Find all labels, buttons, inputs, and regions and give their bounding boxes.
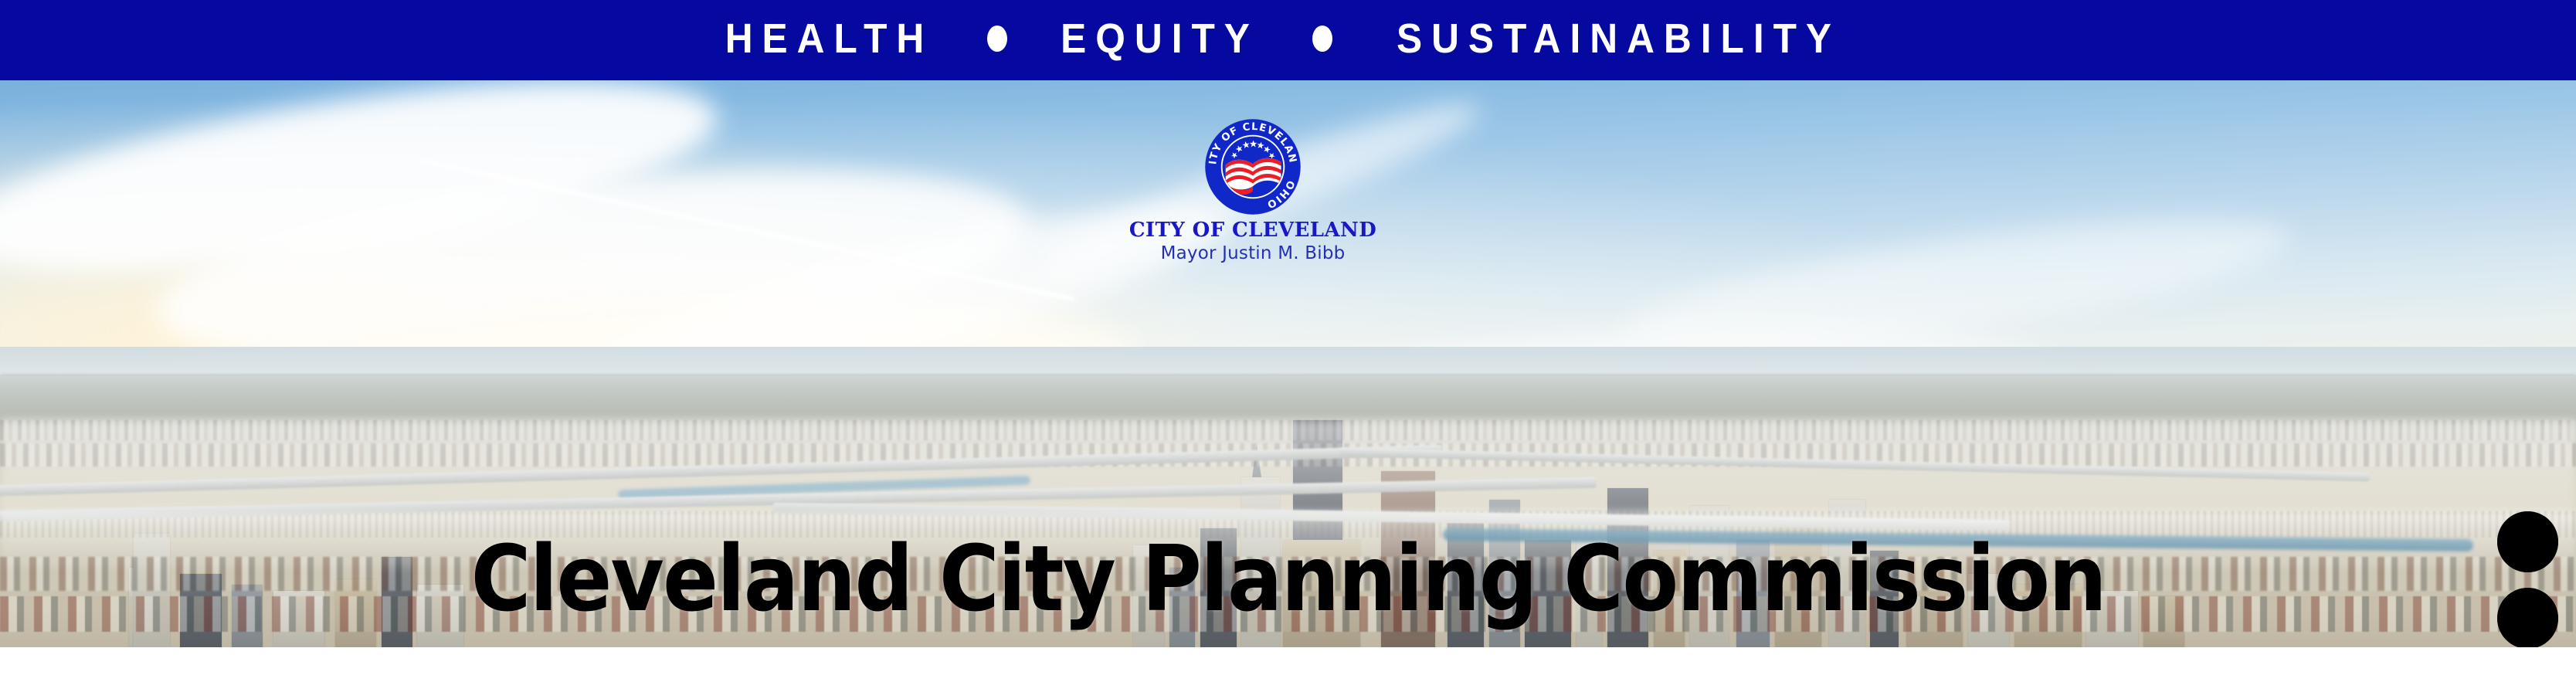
banner-word-health: HEALTH: [725, 18, 934, 59]
top-banner: HEALTH EQUITY SUSTAINABILITY: [0, 0, 2576, 80]
neighborhood-texture: [0, 557, 2576, 591]
social-links: [2497, 511, 2558, 647]
brand-block: CITY OF CLEVELAND OHIO: [1114, 118, 1392, 263]
youtube-icon[interactable]: [2497, 511, 2558, 572]
neighborhood-texture: [0, 596, 2576, 632]
page-root: HEALTH EQUITY SUSTAINABILITY: [0, 0, 2576, 682]
instagram-icon[interactable]: [2497, 588, 2558, 647]
city-of-cleveland-seal-icon: CITY OF CLEVELAND OHIO: [1204, 118, 1302, 215]
banner-word-sustainability: SUSTAINABILITY: [1397, 18, 1841, 59]
bullet-dot-icon: [987, 25, 1007, 52]
hero-photo: CITY OF CLEVELAND OHIO: [0, 80, 2576, 647]
mayor-name-label: Mayor Justin M. Bibb: [1114, 244, 1392, 263]
city-name-label: CITY OF CLEVELAND: [1114, 220, 1392, 241]
banner-inner: HEALTH EQUITY SUSTAINABILITY: [716, 18, 1860, 59]
bullet-dot-icon: [1312, 25, 1332, 52]
banner-word-equity: EQUITY: [1061, 18, 1259, 59]
